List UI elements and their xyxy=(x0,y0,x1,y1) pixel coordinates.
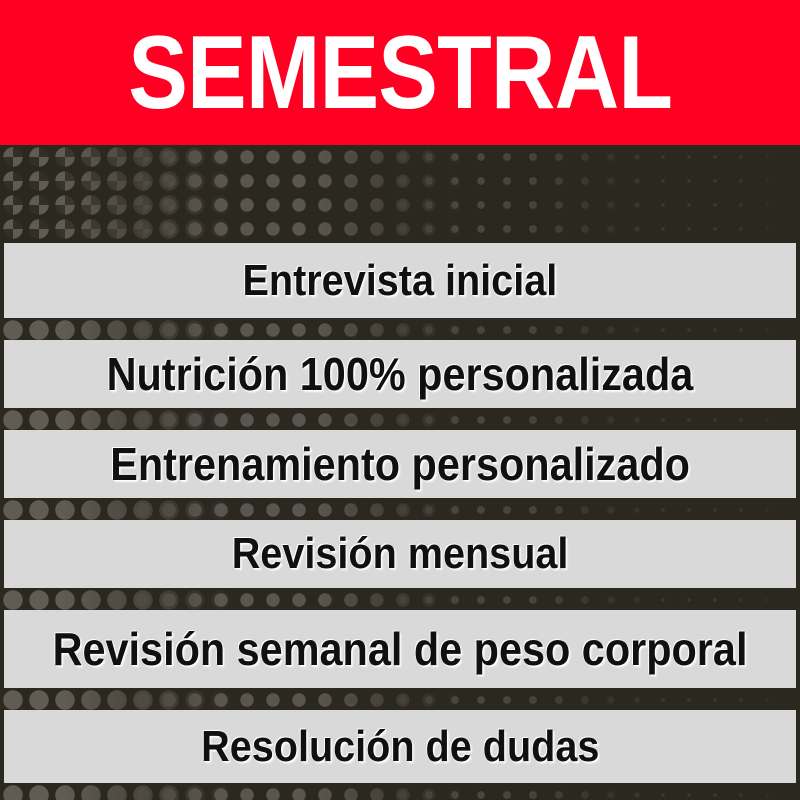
poster-header: SEMESTRAL xyxy=(0,0,800,145)
halftone-dots xyxy=(0,688,800,710)
feature-label: Revisión mensual xyxy=(232,532,569,576)
halftone-layer-tiny-dots xyxy=(0,498,800,520)
halftone-separator xyxy=(0,688,800,710)
promo-poster: SEMESTRAL Entrevista inicial Nutrición 1… xyxy=(0,0,800,800)
feature-label: Nutrición 100% personalizada xyxy=(107,351,694,397)
feature-bar[interactable]: Revisión mensual xyxy=(4,520,796,588)
halftone-dots xyxy=(0,318,800,340)
feature-label: Resolución de dudas xyxy=(201,725,599,769)
halftone-band-top xyxy=(0,145,800,243)
halftone-layer-tiny-dots xyxy=(0,318,800,340)
halftone-dots xyxy=(0,145,800,243)
halftone-layer-tiny-dots xyxy=(0,588,800,610)
poster-title: SEMESTRAL xyxy=(128,21,672,125)
halftone-separator xyxy=(0,408,800,430)
feature-bar[interactable]: Revisión semanal de peso corporal xyxy=(4,610,796,688)
halftone-separator xyxy=(0,318,800,340)
halftone-layer-tiny-dots xyxy=(0,688,800,710)
feature-bar[interactable]: Entrenamiento personalizado xyxy=(4,430,796,498)
halftone-layer-tiny-dots xyxy=(0,408,800,430)
feature-bar[interactable]: Nutrición 100% personalizada xyxy=(4,340,796,408)
halftone-dots xyxy=(0,408,800,430)
feature-bar[interactable]: Resolución de dudas xyxy=(4,710,796,783)
feature-bar[interactable]: Entrevista inicial xyxy=(4,243,796,318)
halftone-dots xyxy=(0,498,800,520)
halftone-dots xyxy=(0,783,800,800)
halftone-dots xyxy=(0,588,800,610)
halftone-separator xyxy=(0,498,800,520)
feature-label: Entrenamiento personalizado xyxy=(110,441,690,487)
halftone-band-bottom xyxy=(0,783,800,800)
halftone-separator xyxy=(0,588,800,610)
feature-label: Revisión semanal de peso corporal xyxy=(53,626,748,672)
halftone-layer-diamonds xyxy=(0,145,800,243)
halftone-layer-tiny-dots xyxy=(0,783,800,800)
feature-label: Entrevista inicial xyxy=(243,259,558,303)
